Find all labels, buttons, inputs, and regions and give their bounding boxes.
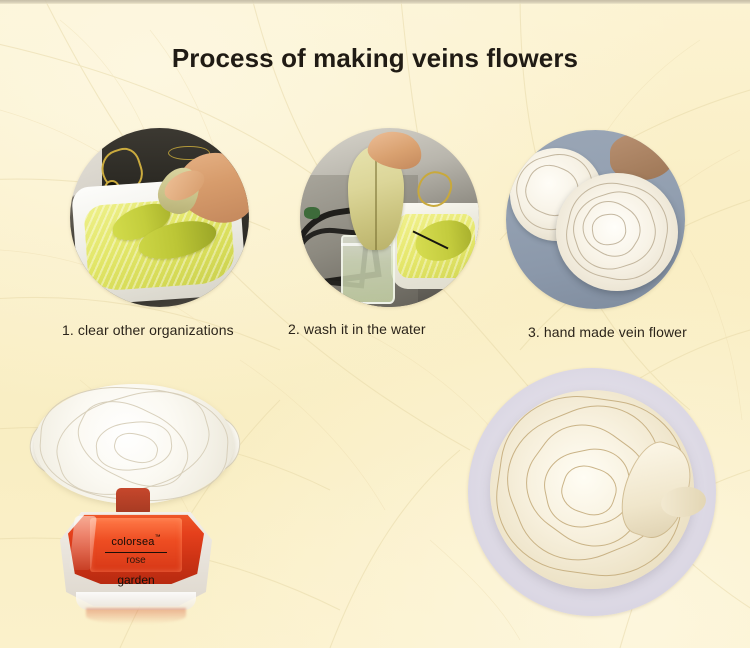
trademark-symbol: ™: [155, 535, 161, 541]
bottle-brand-name: colorsea: [111, 536, 154, 548]
bottle-line-1: rose: [60, 555, 212, 566]
perfume-bottle: colorsea™ rose garden: [60, 508, 212, 618]
step-photo-1: [70, 128, 249, 307]
step-photo-2: [300, 128, 479, 307]
step-caption-3: 3. hand made vein flower: [528, 324, 687, 340]
page-title: Process of making veins flowers: [0, 43, 750, 74]
step-caption-2: 2. wash it in the water: [288, 321, 426, 337]
step-caption-1: 1. clear other organizations: [62, 322, 234, 338]
product-detail-page: Process of making veins flowers: [0, 0, 750, 648]
bottle-line-2: garden: [60, 573, 212, 587]
product-showcase-image: colorsea™ rose garden: [28, 378, 250, 628]
bottle-label: colorsea™ rose garden: [60, 532, 212, 587]
top-edge-strip: [0, 0, 750, 4]
product-detail-photo: [468, 368, 716, 616]
step-photo-3: [506, 130, 685, 309]
